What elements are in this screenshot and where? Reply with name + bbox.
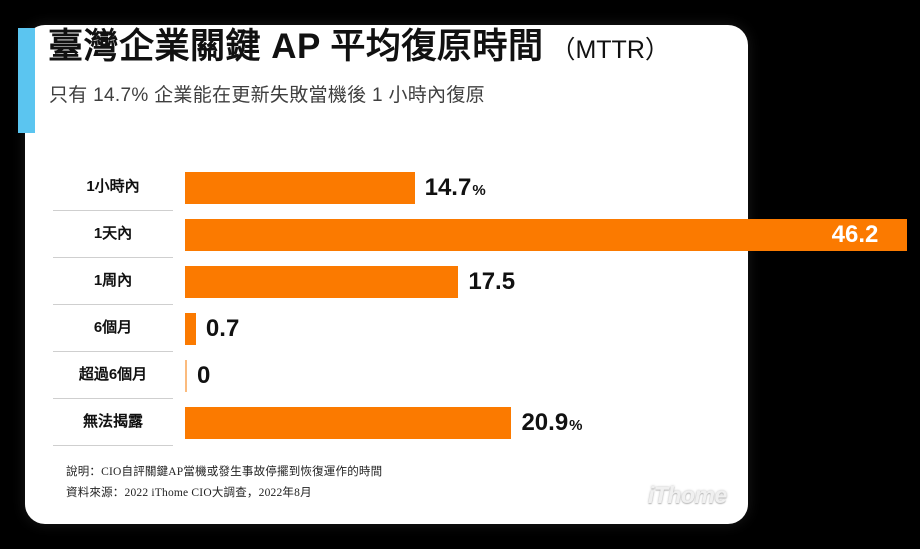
category-label: 超過6個月 (53, 352, 173, 398)
chart-row: 6個月0.7 (0, 305, 920, 351)
bar-value-number: 14.7 (425, 174, 472, 201)
bar-value-number: 46.2 (832, 221, 879, 248)
category-label: 1小時內 (53, 164, 173, 210)
bar-value-number: 0 (197, 362, 210, 389)
category-label: 無法揭露 (53, 399, 173, 445)
category-label: 1天內 (53, 211, 173, 257)
bar-value-number: 17.5 (468, 268, 515, 295)
bar-value-label: 0 (197, 360, 210, 392)
bar-value-number: 0.7 (206, 315, 239, 342)
bar-value-label: 17.5 (468, 266, 515, 298)
chart-row: 超過6個月0 (0, 352, 920, 398)
bar-4 (185, 313, 196, 345)
bar-value-unit: % (569, 417, 582, 434)
bar-value-number: 20.9 (521, 409, 568, 436)
bar-value-label: 0.7 (206, 313, 239, 345)
row-divider (53, 445, 173, 446)
ithome-logo: iThome (648, 482, 727, 509)
chart-note: 說明：CIO自評關鍵AP當機或發生事故停擺到恢復運作的時間 (66, 463, 382, 479)
bar-1 (185, 172, 415, 204)
chart-row: 1周內17.5 (0, 258, 920, 304)
chart-row: 1小時內14.7% (0, 164, 920, 210)
chart-source: 資料來源：2022 iThome CIO大調查，2022年8月 (66, 484, 312, 500)
bar-5 (185, 360, 187, 392)
bar-value-label: 20.9% (521, 407, 582, 439)
chart-row: 1天內46.2 (0, 211, 920, 257)
screenshot-stage: 臺灣企業關鍵 AP 平均復原時間 （MTTR） 只有 14.7% 企業能在更新失… (0, 0, 920, 549)
bar-value-label: 14.7% (425, 172, 486, 204)
category-label: 1周內 (53, 258, 173, 304)
bar-3 (185, 266, 458, 298)
bar-value-label: 46.2 (832, 219, 879, 251)
bar-value-unit: % (472, 182, 485, 199)
bar-6 (185, 407, 511, 439)
category-label: 6個月 (53, 305, 173, 351)
bar-2 (185, 219, 907, 251)
chart-row: 無法揭露20.9% (0, 399, 920, 445)
